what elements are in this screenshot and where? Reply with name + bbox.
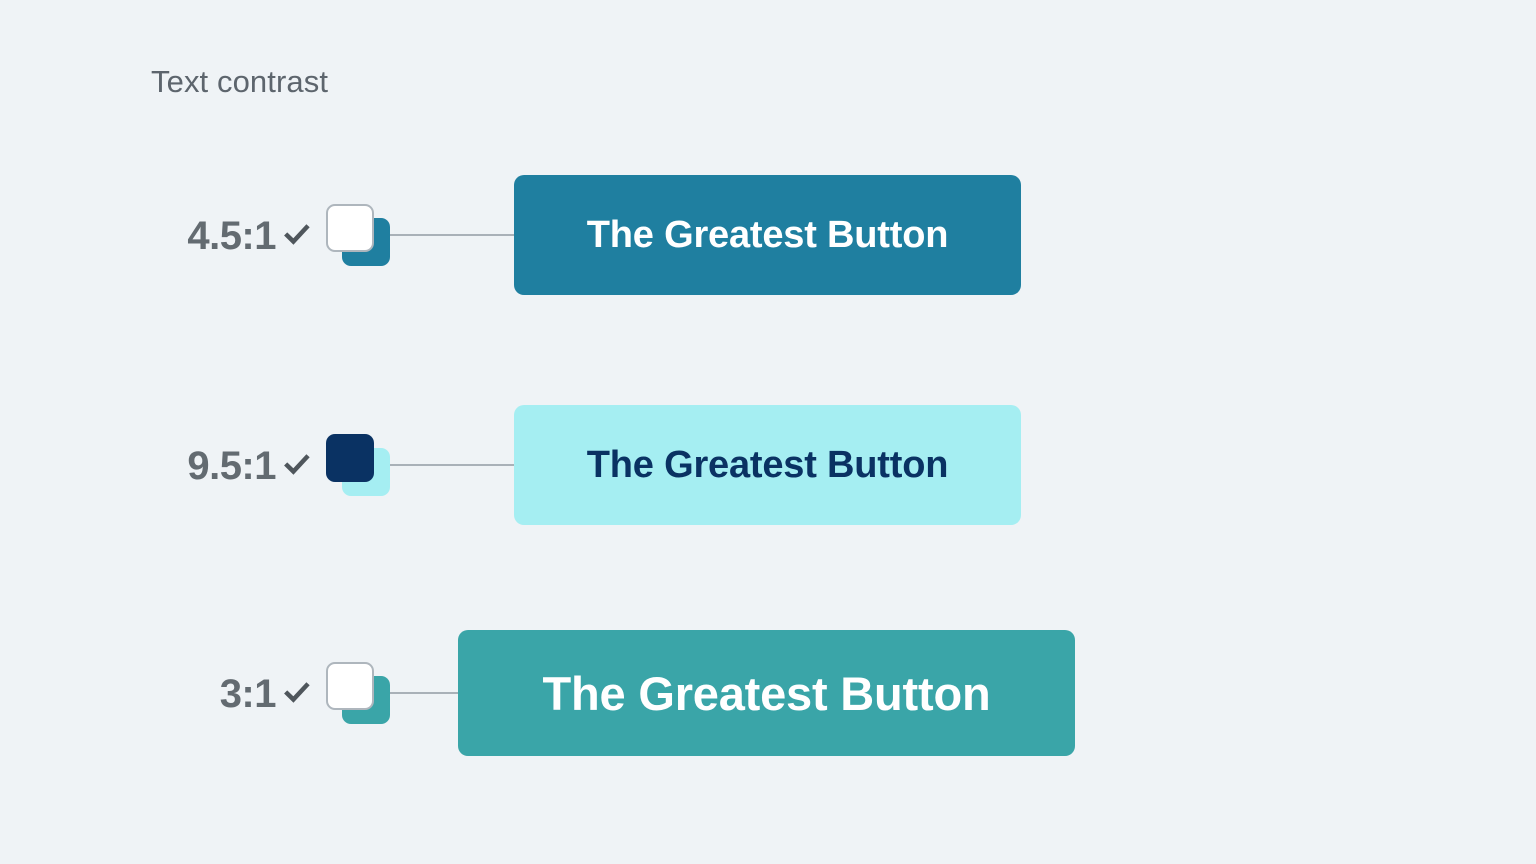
- connector-line: [390, 234, 514, 236]
- swatch-foreground-color: [326, 662, 374, 710]
- contrast-ratio-label: 3:1: [220, 674, 276, 714]
- check-icon: [280, 218, 314, 252]
- contrast-row: 4.5:1 The Greatest Button: [0, 175, 1536, 295]
- demo-button[interactable]: The Greatest Button: [458, 630, 1075, 756]
- check-icon: [280, 448, 314, 482]
- contrast-diagram-canvas: Text contrast 4.5:1 The Greatest Button …: [0, 0, 1536, 864]
- demo-button[interactable]: The Greatest Button: [514, 175, 1021, 295]
- connector-line: [390, 464, 514, 466]
- color-swatch-pair: [326, 426, 390, 504]
- ratio-cluster: 3:1: [220, 630, 390, 756]
- contrast-ratio-label: 4.5:1: [187, 216, 276, 256]
- connector-line: [390, 692, 458, 694]
- check-icon: [280, 676, 314, 710]
- demo-button[interactable]: The Greatest Button: [514, 405, 1021, 525]
- contrast-ratio-label: 9.5:1: [187, 446, 276, 486]
- swatch-foreground-color: [326, 204, 374, 252]
- page-title: Text contrast: [151, 64, 328, 100]
- contrast-row: 9.5:1 The Greatest Button: [0, 405, 1536, 525]
- contrast-row: 3:1 The Greatest Button: [0, 630, 1536, 756]
- color-swatch-pair: [326, 654, 390, 732]
- swatch-foreground-color: [326, 434, 374, 482]
- ratio-cluster: 9.5:1: [187, 405, 390, 525]
- color-swatch-pair: [326, 196, 390, 274]
- ratio-cluster: 4.5:1: [187, 175, 390, 295]
